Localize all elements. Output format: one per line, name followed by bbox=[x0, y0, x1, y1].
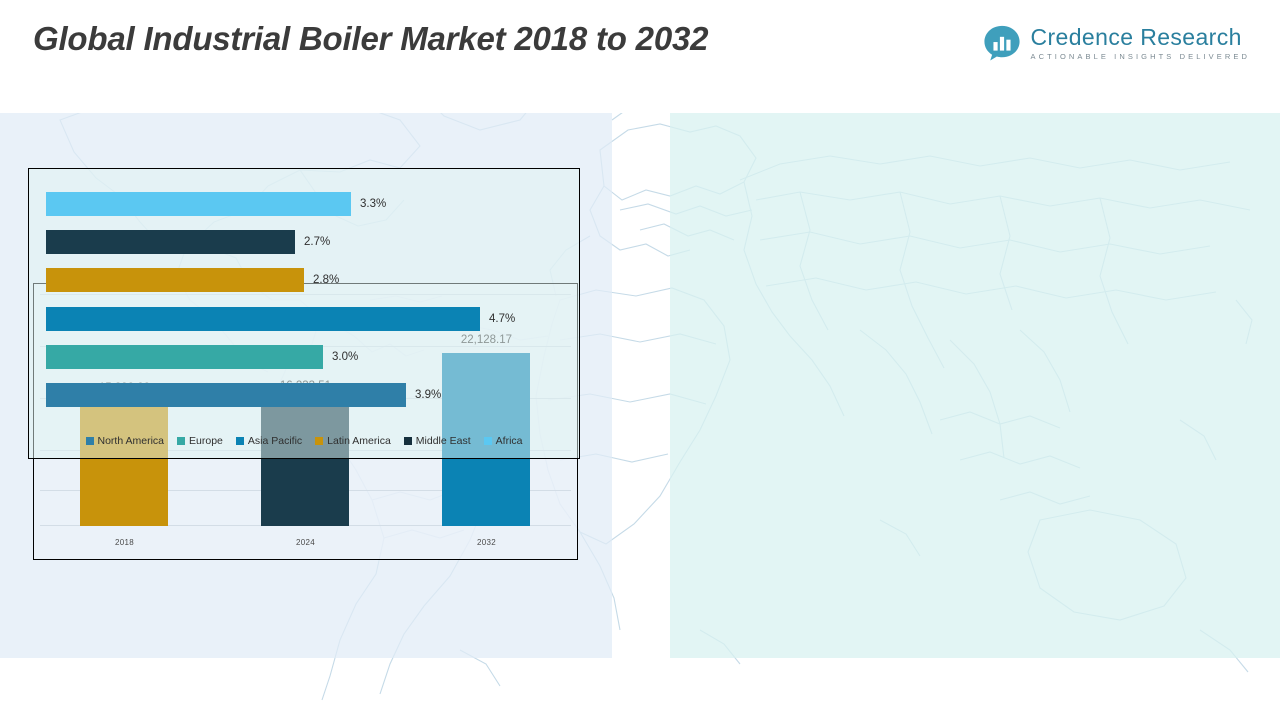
cagr-bar-asia-pacific bbox=[46, 307, 480, 331]
cagr-row-asia-pacific: 4.7% bbox=[46, 299, 569, 337]
right-panel bbox=[670, 113, 1280, 658]
legend-label: Africa bbox=[496, 435, 523, 447]
legend-label: Asia Pacific bbox=[248, 435, 302, 447]
legend-item-north-america[interactable]: North America bbox=[86, 435, 165, 447]
logo-name: Credence Research bbox=[1030, 26, 1250, 49]
cagr-row-latin-america: 2.8% bbox=[46, 261, 569, 299]
x-axis-label-2024: 2024 bbox=[215, 538, 396, 547]
cagr-value-label: 2.7% bbox=[304, 236, 330, 248]
legend-swatch-icon bbox=[315, 437, 323, 445]
legend-item-middle-east[interactable]: Middle East bbox=[404, 435, 471, 447]
cagr-row-africa: 3.3% bbox=[46, 185, 569, 223]
cagr-bar-north-america bbox=[46, 383, 406, 407]
cagr-row-north-america: 3.9% bbox=[46, 376, 569, 414]
cagr-value-label: 3.0% bbox=[332, 351, 358, 363]
cagr-bars-area: 3.3%2.7%2.8%4.7%3.0%3.9% bbox=[46, 185, 569, 414]
infographic-page: Global Industrial Boiler Market 2018 to … bbox=[0, 0, 1280, 720]
bar-chart-speech-bubble-icon bbox=[983, 24, 1021, 62]
legend-label: North America bbox=[98, 435, 165, 447]
logo-text: Credence Research Actionable Insights De… bbox=[1030, 26, 1250, 61]
cagr-bar-europe bbox=[46, 345, 323, 369]
legend-label: Latin America bbox=[327, 435, 391, 447]
legend-item-latin-america[interactable]: Latin America bbox=[315, 435, 391, 447]
legend-swatch-icon bbox=[404, 437, 412, 445]
cagr-row-europe: 3.0% bbox=[46, 338, 569, 376]
legend-swatch-icon bbox=[484, 437, 492, 445]
cagr-value-label: 2.8% bbox=[313, 274, 339, 286]
header: Global Industrial Boiler Market 2018 to … bbox=[0, 0, 1280, 113]
legend-item-europe[interactable]: Europe bbox=[177, 435, 223, 447]
cagr-value-label: 3.3% bbox=[360, 198, 386, 210]
legend-item-africa[interactable]: Africa bbox=[484, 435, 523, 447]
cagr-row-middle-east: 2.7% bbox=[46, 223, 569, 261]
brand-logo: Credence Research Actionable Insights De… bbox=[983, 24, 1250, 62]
legend-swatch-icon bbox=[236, 437, 244, 445]
cagr-bar-latin-america bbox=[46, 268, 304, 292]
cagr-bar-middle-east bbox=[46, 230, 295, 254]
x-axis-label-2018: 2018 bbox=[34, 538, 215, 547]
cagr-value-label: 3.9% bbox=[415, 389, 441, 401]
legend-swatch-icon bbox=[86, 437, 94, 445]
cagr-by-region-bar-chart: 3.3%2.7%2.8%4.7%3.0%3.9% North AmericaEu… bbox=[28, 168, 580, 459]
legend-label: Europe bbox=[189, 435, 223, 447]
page-title: Global Industrial Boiler Market 2018 to … bbox=[33, 20, 708, 58]
legend-item-asia-pacific[interactable]: Asia Pacific bbox=[236, 435, 302, 447]
cagr-legend: North AmericaEuropeAsia PacificLatin Ame… bbox=[29, 435, 579, 447]
legend-swatch-icon bbox=[177, 437, 185, 445]
logo-tagline: Actionable Insights Delivered bbox=[1030, 53, 1250, 61]
legend-label: Middle East bbox=[416, 435, 471, 447]
cagr-bar-africa bbox=[46, 192, 351, 216]
cagr-value-label: 4.7% bbox=[489, 313, 515, 325]
x-axis-label-2032: 2032 bbox=[396, 538, 577, 547]
